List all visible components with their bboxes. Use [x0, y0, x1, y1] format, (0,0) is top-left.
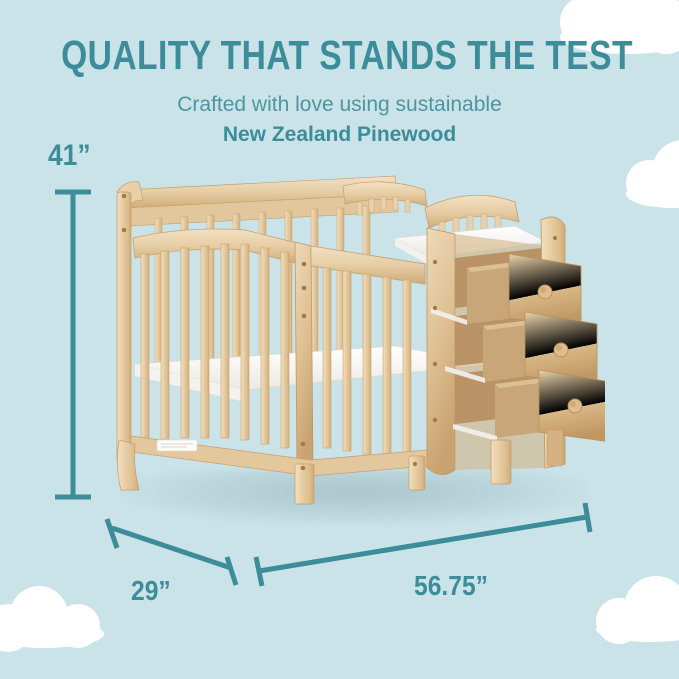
dimension-cap-depth-start — [107, 519, 117, 548]
crib-leg-center — [295, 464, 314, 504]
safety-label — [157, 440, 197, 451]
dimension-cap-depth-end — [227, 557, 236, 585]
dimension-cap-width-start — [256, 557, 262, 586]
dimension-line-width — [259, 517, 587, 571]
crib-front-slats — [141, 244, 289, 448]
crib-center-post — [295, 242, 313, 474]
crib-left-post — [117, 192, 131, 464]
product-image-crib-with-changer — [95, 168, 605, 513]
changer-cabinet-front — [427, 228, 455, 475]
changer-leg-front — [491, 440, 511, 484]
marketing-image: QUALITY THAT STANDS THE TEST Crafted wit… — [0, 0, 679, 679]
dimension-line-depth — [112, 528, 231, 568]
crib-leg-right — [409, 456, 425, 490]
changer-leg-back — [547, 430, 563, 466]
